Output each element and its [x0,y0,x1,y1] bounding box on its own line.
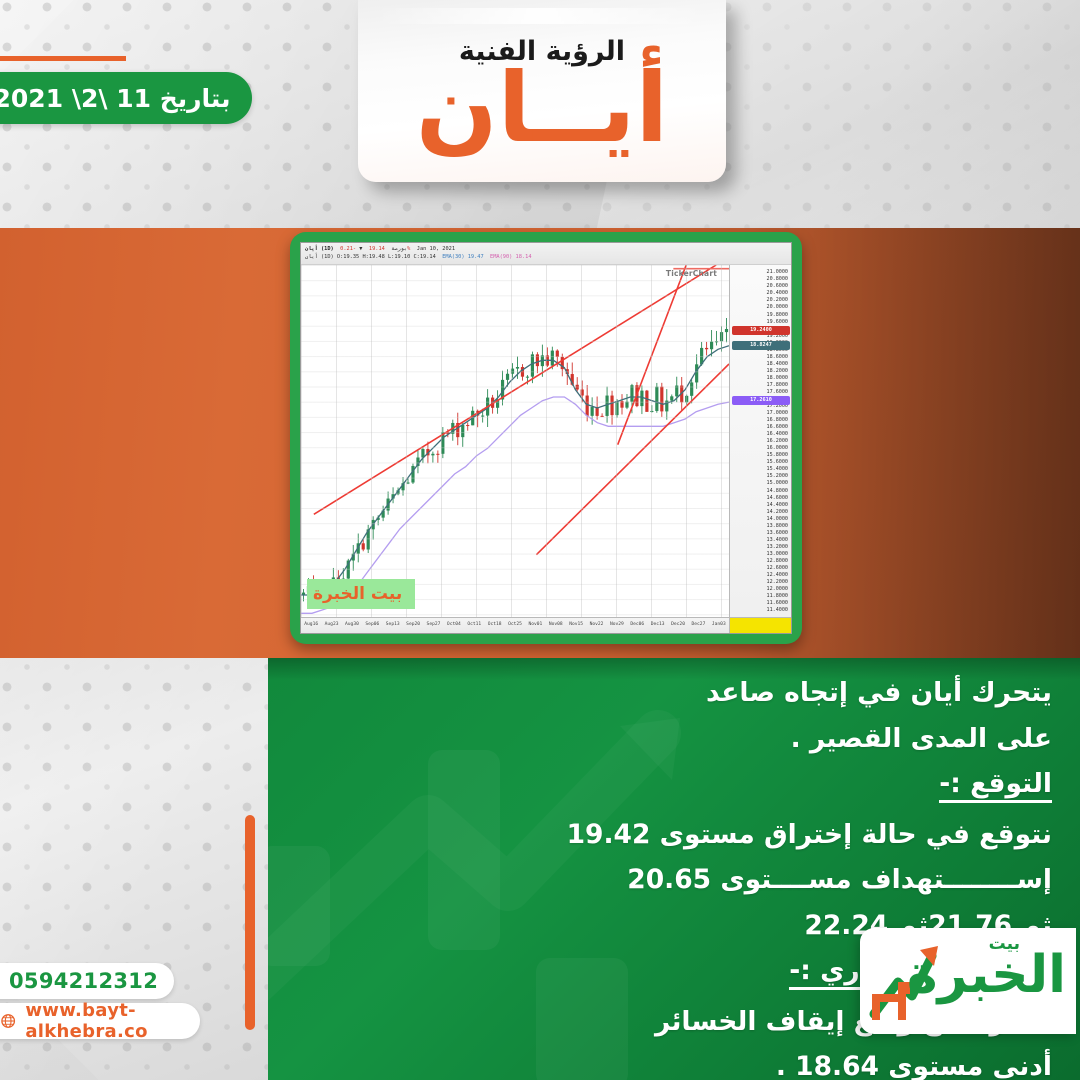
price-tick: 20.6000 [767,284,788,289]
date-accent-rule [0,56,126,61]
price-tick: 14.2000 [767,510,788,515]
date-tick: Sep27 [427,622,441,627]
analysis-heading-wrap: التوقع :- [292,771,1052,803]
chart-exchange: بورصة [391,246,407,252]
date-tick: Sep20 [406,622,420,627]
price-tick: 16.4000 [767,432,788,437]
price-tick: 12.8000 [767,559,788,564]
price-tick: 17.0000 [767,411,788,416]
analysis-line: على المدى القصير . [292,726,1052,753]
price-tick: 20.2000 [767,298,788,303]
logo-word-big: الخبرة [926,946,1066,1006]
price-tick: 12.0000 [767,587,788,592]
date-badge: بتاريخ 11 \2\ 2021 [0,72,252,124]
price-tick: 11.8000 [767,594,788,599]
price-tick: 15.4000 [767,467,788,472]
price-tick: 16.8000 [767,418,788,423]
tickerchart-watermark: TickerChart [666,269,717,278]
date-tick: Oct25 [508,622,522,627]
price-tick: 13.2000 [767,545,788,550]
chart-last-price: 19.14 [369,246,385,252]
date-tick: Oct18 [488,622,502,627]
website-url: www.bayt-alkhebra.co [25,1000,184,1042]
price-tick: 16.0000 [767,446,788,451]
price-tick: 12.4000 [767,573,788,578]
analysis-heading: التوقع :- [939,771,1052,803]
chart-ema-fast-legend: EMA(30) 19.47 [442,254,483,260]
orange-accent-bar [245,815,255,1030]
date-tick: Dec13 [651,622,665,627]
chart-toolbar-row-1: أيان (1D) بورصة 19.14 ▼ -0.21% Jan 10, 2… [305,245,787,253]
price-tick: 17.6000 [767,390,788,395]
whatsapp-contact[interactable]: 0594212312 [0,963,174,999]
analysis-line: أدنى مستوى 18.64 . [292,1054,1052,1080]
date-tick: Dec27 [692,622,706,627]
chart-screenshot[interactable]: أيان (1D) بورصة 19.14 ▼ -0.21% Jan 10, 2… [300,242,792,634]
price-tick: 18.2000 [767,369,788,374]
date-tick: Jan03 [712,622,726,627]
date-tick: Oct11 [467,622,481,627]
price-marker-ema-fast: 18.8247 [732,341,790,350]
price-tick: 11.4000 [767,608,788,613]
price-tick: 11.6000 [767,601,788,606]
price-tick: 19.6000 [767,320,788,325]
date-tick: Dec06 [630,622,644,627]
price-marker-ema-slow: 17.2610 [732,396,790,405]
date-tick: Oct04 [447,622,461,627]
chart-toolbar: أيان (1D) بورصة 19.14 ▼ -0.21% Jan 10, 2… [301,243,791,265]
price-tick: 20.4000 [767,291,788,296]
price-tick: 17.8000 [767,383,788,388]
date-tick: Nov22 [590,622,604,627]
chart-date: Jan 10, 2021 [417,246,455,252]
price-tick: 15.6000 [767,460,788,465]
chart-date-axis: Aug16Aug23Aug30Sep06Sep13Sep20Sep27Oct04… [301,617,729,633]
date-tick: Aug30 [345,622,359,627]
title-card: الرؤية الفنية أيــان [358,0,726,182]
price-tick: 15.2000 [767,474,788,479]
date-tick: Nov01 [528,622,542,627]
chart-toolbar-row-2: أيان (1D) O:19.35 H:19.48 L:19.10 C:19.1… [305,253,787,261]
chart-ohlc: أيان (1D) O:19.35 H:19.48 L:19.10 C:19.1… [305,254,436,260]
analysis-line: يتحرك أيان في إتجاه صاعد [292,680,1052,707]
price-tick: 15.0000 [767,481,788,486]
brand-logo[interactable]: بيت الخبرة [860,928,1076,1034]
whatsapp-number: 0594212312 [9,969,158,993]
price-tick: 18.6000 [767,355,788,360]
date-tick: Nov15 [569,622,583,627]
price-tick: 12.6000 [767,566,788,571]
infographic-root: بتاريخ 11 \2\ 2021 الرؤية الفنية أيــان … [0,0,1080,1080]
title-card-sheen [376,8,706,24]
price-tick: 16.6000 [767,425,788,430]
chart-price-axis: 21.000020.800020.600020.400020.200020.00… [729,265,791,617]
chart-symbol: أيان (1D) [305,246,334,252]
chart-axis-corner [729,617,791,633]
price-tick: 19.8000 [767,313,788,318]
price-tick: 18.4000 [767,362,788,367]
price-marker-last-price: 19.2400 [732,326,790,335]
price-tick: 14.6000 [767,496,788,501]
price-tick: 21.0000 [767,270,788,275]
date-tick: Aug16 [304,622,318,627]
price-tick: 16.2000 [767,439,788,444]
price-tick: 20.8000 [767,277,788,282]
price-tick: 13.8000 [767,524,788,529]
price-tick: 17.2000 [767,404,788,409]
date-tick: Nov08 [549,622,563,627]
price-tick: 14.0000 [767,517,788,522]
globe-icon [0,1009,16,1033]
analysis-line: نتوقع في حالة إختراق مستوى 19.42 [292,822,1052,849]
price-tick: 13.0000 [767,552,788,557]
price-tick: 13.6000 [767,531,788,536]
chart-frame: أيان (1D) بورصة 19.14 ▼ -0.21% Jan 10, 2… [290,232,802,644]
date-tick: Sep06 [365,622,379,627]
date-tick: Dec20 [671,622,685,627]
price-tick: 12.2000 [767,580,788,585]
bayt-alkhebra-watermark: بيت الخبرة [307,579,415,609]
chart-plot-area: TickerChart بيت الخبرة [301,265,729,617]
price-tick: 20.0000 [767,305,788,310]
price-tick: 13.4000 [767,538,788,543]
price-tick: 15.8000 [767,453,788,458]
date-tick: Aug23 [325,622,339,627]
price-tick: 18.0000 [767,376,788,381]
analysis-line: إســــــــتهداف مســــتوى 20.65 [292,867,1052,894]
chart-ema-slow-legend: EMA(90) 18.14 [490,254,531,260]
page-title: أيــان [382,58,702,159]
date-tick: Sep13 [386,622,400,627]
chart-gridlines [301,265,729,617]
website-contact[interactable]: www.bayt-alkhebra.co [0,1003,200,1039]
price-tick: 14.4000 [767,503,788,508]
price-tick: 14.8000 [767,489,788,494]
date-tick: Nov29 [610,622,624,627]
